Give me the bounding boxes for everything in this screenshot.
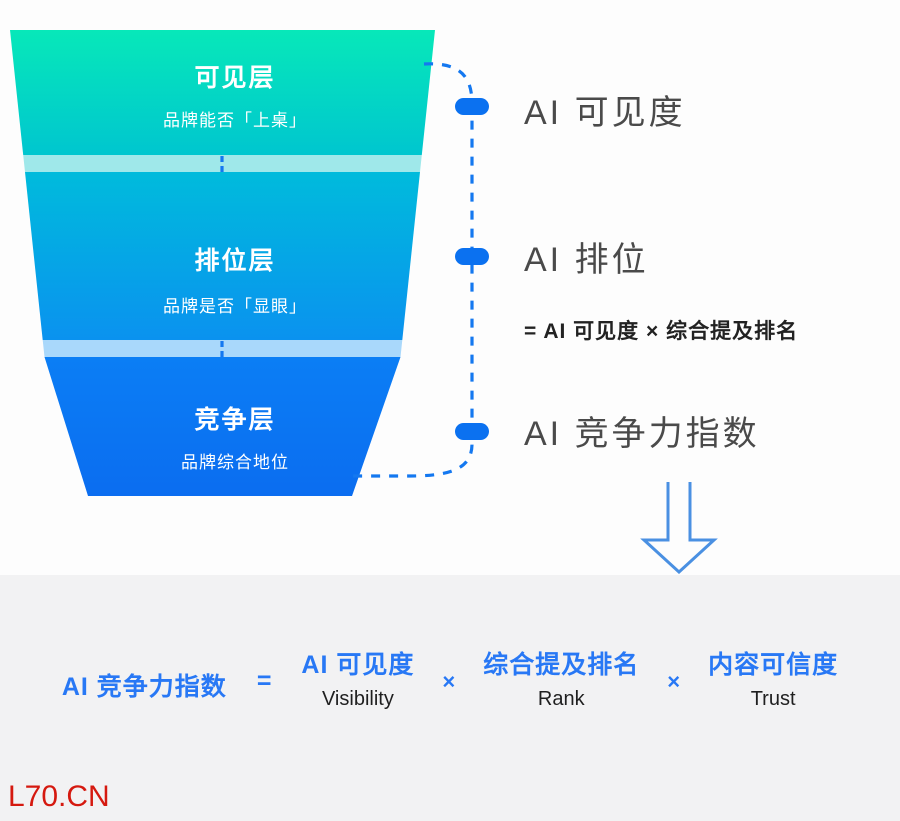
- term-cn-rank: 综合提及排名: [483, 645, 639, 681]
- infographic-canvas: 可见层 品牌能否「上桌」 排位层 品牌是否「显眼」 竞争层 品牌综合地位 AI …: [0, 0, 900, 821]
- funnel-diagram: 可见层 品牌能否「上桌」 排位层 品牌是否「显眼」 竞争层 品牌综合地位: [0, 0, 470, 520]
- funnel-layer-1: [10, 30, 435, 155]
- term-cn-visibility: AI 可见度: [301, 645, 414, 681]
- equation-result-label: AI 竞争力指数: [62, 667, 227, 703]
- equation-term-rank: 综合提及排名 Rank: [483, 645, 639, 711]
- equation-term-trust: 内容可信度 Trust: [708, 645, 838, 711]
- equation-term-visibility: AI 可见度 Visibility: [301, 645, 414, 711]
- term-en-trust: Trust: [751, 688, 796, 711]
- term-en-rank: Rank: [538, 688, 585, 711]
- funnel-layer-2: [25, 172, 420, 340]
- equation-multiply-2: ×: [639, 669, 708, 695]
- connector-label-rank: AI 排位: [524, 232, 649, 281]
- down-arrow-icon: [626, 482, 732, 574]
- connector-dot-rank[interactable]: [455, 248, 489, 265]
- connector-label-competitiveness: AI 竞争力指数: [524, 406, 760, 455]
- funnel-svg: [0, 0, 520, 520]
- term-cn-trust: 内容可信度: [708, 645, 838, 681]
- equation-equals-sign: =: [227, 667, 302, 696]
- equation-multiply-1: ×: [414, 669, 483, 695]
- watermark-label: L70.CN: [8, 780, 110, 814]
- connector-dot-competitiveness[interactable]: [455, 423, 489, 440]
- connector-dot-visibility[interactable]: [455, 98, 489, 115]
- equation-row: AI 竞争力指数 = AI 可见度 Visibility × 综合提及排名 Ra…: [0, 645, 900, 755]
- connector-formula-rank: = AI 可见度 × 综合提及排名: [524, 315, 798, 345]
- connector-label-visibility: AI 可见度: [524, 85, 686, 134]
- funnel-layer-3: [45, 357, 401, 496]
- term-en-visibility: Visibility: [322, 688, 394, 711]
